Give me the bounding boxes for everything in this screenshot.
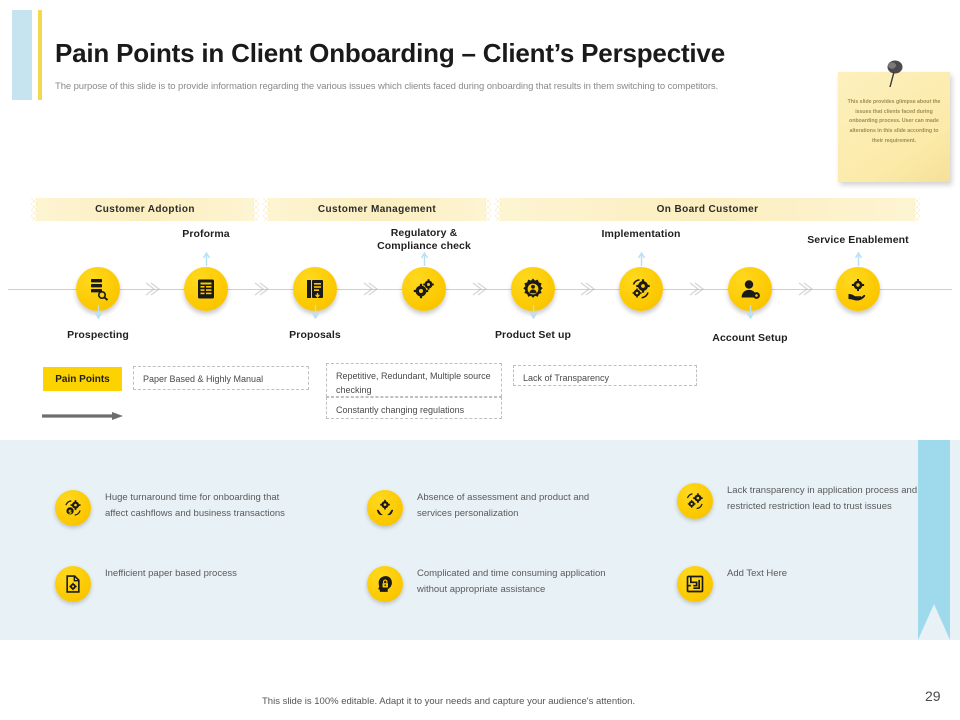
chevron-right-icon [253, 281, 270, 297]
money-gear-icon: $ [55, 490, 91, 526]
chevron-right-icon [471, 281, 488, 297]
section-banner-label: Customer Management [318, 204, 436, 215]
checklist-doc-icon [194, 277, 218, 301]
maze-icon [677, 566, 713, 602]
gears-icon [412, 277, 436, 301]
panel-item[interactable]: $ Huge turnaround time for onboarding th… [55, 490, 345, 526]
timeline-node-regulatory-compliance[interactable] [402, 267, 446, 311]
panel-item-text: Absence of assessment and product and se… [417, 490, 612, 521]
timeline-node-label: Prospecting [48, 329, 148, 342]
node-arrow-down-icon [94, 305, 103, 319]
document-stack-icon [303, 277, 327, 301]
chevron-right-icon [688, 281, 705, 297]
section-banner-customer-management: Customer Management [268, 198, 486, 221]
panel-item[interactable]: Absence of assessment and product and se… [367, 490, 657, 526]
pain-points-arrow-icon [42, 411, 124, 421]
head-lock-icon [367, 566, 403, 602]
panel-item-text: Add Text Here [727, 566, 787, 582]
slide-canvas: Pain Points in Client Onboarding – Clien… [0, 0, 960, 720]
panel-item-text: Lack transparency in application process… [727, 483, 922, 514]
timeline-node-label: Service Enablement [798, 234, 918, 247]
chevron-right-icon [797, 281, 814, 297]
panel-item[interactable]: Lack transparency in application process… [677, 483, 937, 519]
pushpin-icon [881, 60, 907, 90]
node-arrow-up-icon [637, 252, 646, 266]
timeline-node-label: Regulatory & Compliance check [359, 227, 489, 253]
sticky-note: This slide provides glimpse about the is… [838, 72, 950, 182]
node-arrow-up-icon [202, 252, 211, 266]
timeline-node-implementation[interactable] [619, 267, 663, 311]
panel-item[interactable]: Inefficient paper based process [55, 566, 345, 602]
header-accent-yellow-bar [38, 10, 42, 100]
gear-person-icon [521, 277, 545, 301]
node-arrow-up-icon [420, 252, 429, 266]
hand-gear-icon [846, 277, 870, 301]
node-arrow-down-icon [529, 305, 538, 319]
footer-note: This slide is 100% editable. Adapt it to… [262, 696, 635, 707]
svg-text:$: $ [68, 509, 72, 515]
sticky-note-text: This slide provides glimpse about the is… [846, 98, 942, 146]
timeline-node-proforma[interactable] [184, 267, 228, 311]
pain-point-box: Constantly changing regulations [326, 397, 502, 419]
timeline-node-label: Product Set up [478, 329, 588, 342]
node-arrow-up-icon [854, 252, 863, 266]
section-banner-on-board-customer: On Board Customer [500, 198, 915, 221]
page-subtitle: The purpose of this slide is to provide … [55, 81, 830, 92]
panel-item-text: Huge turnaround time for onboarding that… [105, 490, 300, 521]
section-banner-label: Customer Adoption [95, 204, 195, 215]
pain-point-box: Lack of Transparency [513, 365, 697, 386]
panel-item-text: Inefficient paper based process [105, 566, 237, 582]
gear-cycle-icon [629, 277, 653, 301]
panel-item-text: Complicated and time consuming applicati… [417, 566, 612, 597]
node-arrow-down-icon [311, 305, 320, 319]
node-arrow-down-icon [746, 305, 755, 319]
page-title: Pain Points in Client Onboarding – Clien… [55, 38, 725, 69]
header-accent-blue-bar [12, 10, 32, 100]
chevron-right-icon [579, 281, 596, 297]
timeline-node-label: Proposals [265, 329, 365, 342]
timeline-node-service-enablement[interactable] [836, 267, 880, 311]
pain-points-badge: Pain Points [43, 367, 122, 391]
timeline-node-label: Implementation [586, 228, 696, 241]
section-banner-label: On Board Customer [657, 204, 759, 215]
page-number: 29 [925, 688, 941, 704]
panel-item[interactable]: Complicated and time consuming applicati… [367, 566, 657, 602]
panel-item[interactable]: Add Text Here [677, 566, 937, 602]
section-banner-customer-adoption: Customer Adoption [36, 198, 254, 221]
timeline-node-label: Account Setup [695, 332, 805, 345]
bottom-panel [0, 440, 960, 640]
document-gear-icon [55, 566, 91, 602]
timeline-node-label: Proforma [156, 228, 256, 241]
hands-gear-icon [367, 490, 403, 526]
user-settings-icon [738, 277, 762, 301]
pain-point-box: Repetitive, Redundant, Multiple source c… [326, 363, 502, 397]
chevron-right-icon [362, 281, 379, 297]
server-search-icon [86, 277, 110, 301]
chevron-right-icon [144, 281, 161, 297]
gears-arrow-icon [677, 483, 713, 519]
pain-point-box: Paper Based & Highly Manual [133, 366, 309, 390]
